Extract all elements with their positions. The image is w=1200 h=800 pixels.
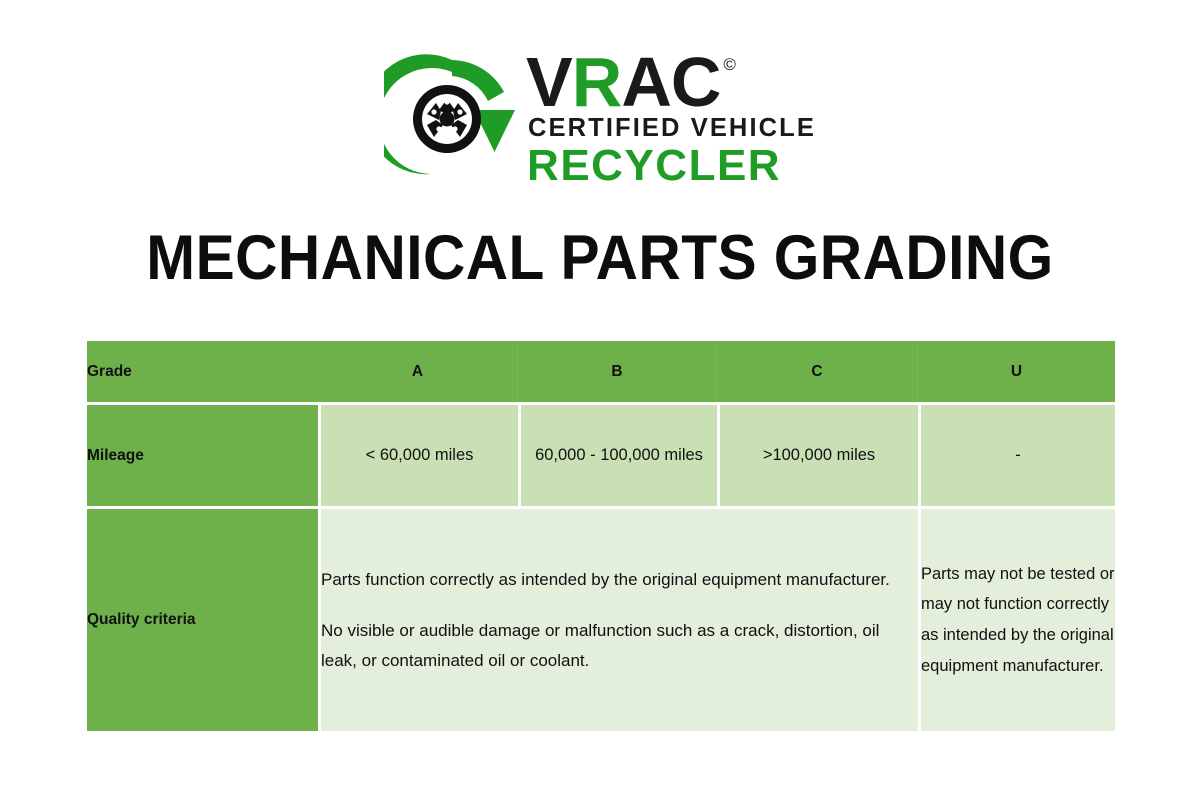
wordmark-ac: AC [621, 52, 720, 112]
quality-cell-abc: Parts function correctly as intended by … [318, 506, 918, 731]
wordmark-r: R [572, 52, 622, 112]
brand-logo: V R AC © CERTIFIED VEHICLE RECYCLER [0, 46, 1200, 206]
header-cell-b: B [518, 341, 717, 402]
table-row-quality-criteria: Quality criteria Parts function correctl… [87, 506, 1115, 731]
mileage-cell-c: >100,000 miles [717, 402, 918, 506]
quality-paragraph-2: No visible or audible damage or malfunct… [321, 616, 918, 674]
logo-recycler-word: RECYCLER [527, 144, 781, 189]
row-label-quality-criteria: Quality criteria [87, 506, 318, 731]
mileage-cell-a: < 60,000 miles [318, 402, 518, 506]
logo-tagline: CERTIFIED VEHICLE [528, 114, 816, 143]
header-cell-u: U [918, 341, 1115, 402]
copyright-icon: © [723, 56, 736, 73]
wheel-recycle-arrow-icon [384, 52, 520, 188]
logo-text-block: V R AC © CERTIFIED VEHICLE RECYCLER [526, 46, 816, 189]
mileage-cell-b: 60,000 - 100,000 miles [518, 402, 717, 506]
wordmark-v: V [526, 52, 572, 112]
header-cell-grade: Grade [87, 341, 318, 402]
table-header-row: Grade A B C U [87, 341, 1115, 402]
page-title: MECHANICAL PARTS GRADING [42, 222, 1158, 294]
row-label-mileage: Mileage [87, 402, 318, 506]
quality-cell-u: Parts may not be tested or may not funct… [918, 506, 1115, 731]
table-row-mileage: Mileage < 60,000 miles 60,000 - 100,000 … [87, 402, 1115, 506]
header-cell-c: C [717, 341, 918, 402]
logo-wordmark: V R AC © [526, 52, 736, 112]
quality-paragraph-1: Parts function correctly as intended by … [321, 565, 918, 594]
grading-table: Grade A B C U Mileage < 60,000 miles 60,… [87, 341, 1115, 731]
mileage-cell-u: - [918, 402, 1115, 506]
header-cell-a: A [318, 341, 518, 402]
logo-inner: V R AC © CERTIFIED VEHICLE RECYCLER [384, 46, 816, 189]
